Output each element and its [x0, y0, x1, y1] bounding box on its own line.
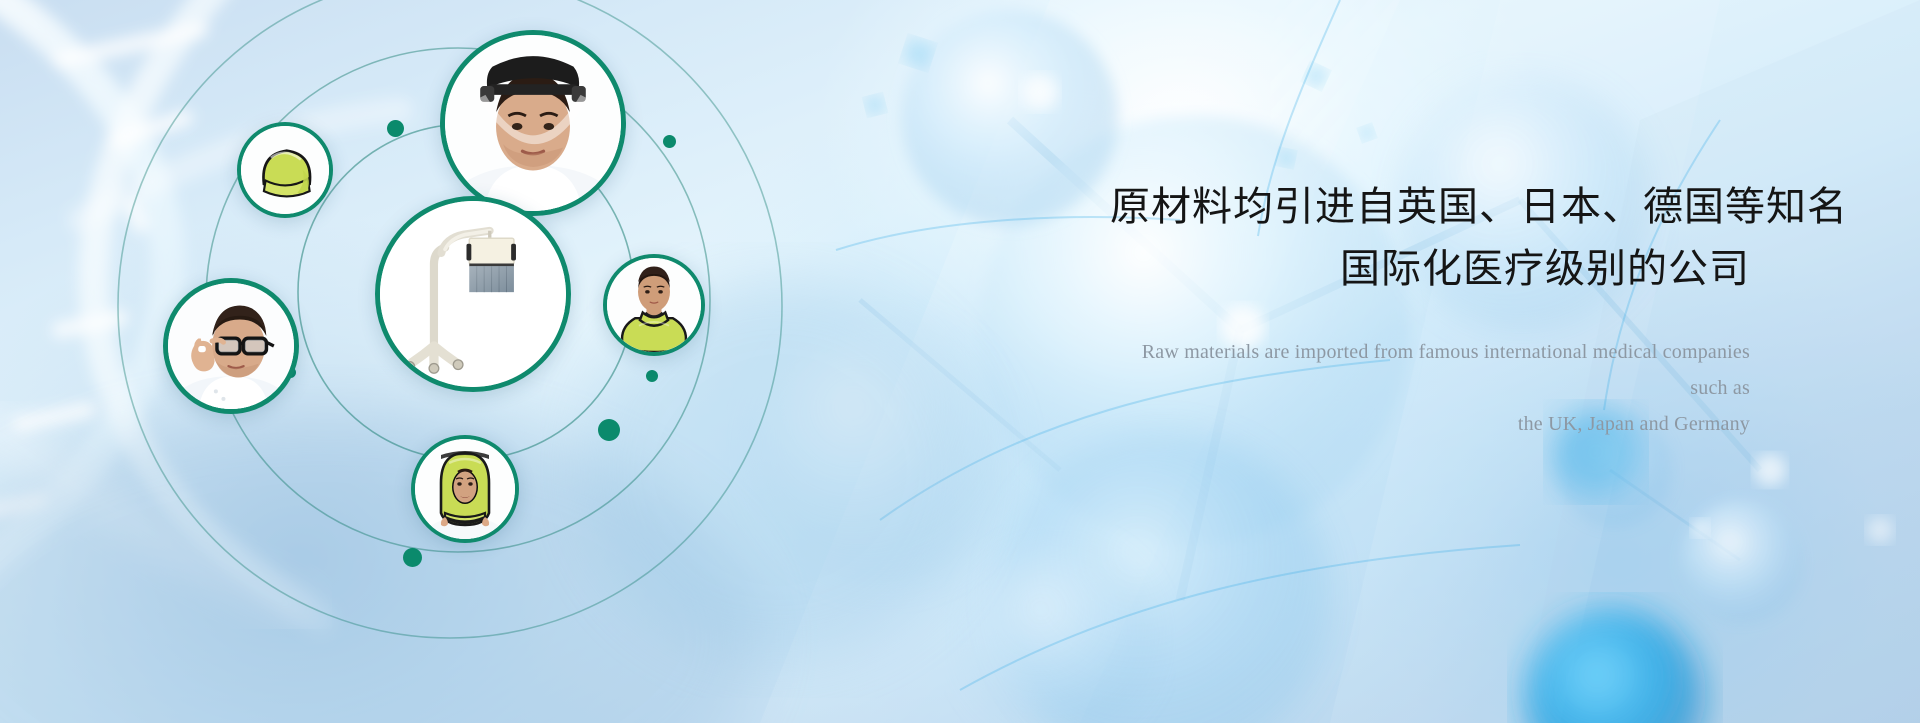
hero-banner: 原材料均引进自英国、日本、德国等知名 国际化医疗级别的公司 Raw materi… [0, 0, 1920, 723]
lead-screen [466, 238, 515, 292]
accent-dot-1 [387, 120, 404, 137]
mobile-barrier-art [380, 201, 566, 387]
thyroid-collar-art [607, 258, 701, 352]
headline-line-1: 原材料均引进自英国、日本、德国等知名 [1110, 176, 1772, 238]
eyeglasses [217, 338, 274, 353]
accent-dot-2 [663, 135, 676, 148]
bubble-thyroid-collar[interactable] [603, 254, 705, 356]
subtitle-line-1: Raw materials are imported from famous i… [1142, 341, 1750, 399]
bubble-face-shield[interactable] [440, 30, 626, 216]
accent-dot-5 [598, 419, 620, 441]
protective-hood-art [415, 439, 515, 539]
headline-line-2: 国际化医疗级别的公司 [1110, 238, 1750, 300]
lead-cap-art [241, 126, 329, 214]
hero-copy-block: 原材料均引进自英国、日本、德国等知名 国际化医疗级别的公司 Raw materi… [1110, 176, 1750, 442]
accent-dot-4 [646, 370, 658, 382]
lead-glasses-art [168, 283, 294, 409]
bubble-lead-glasses[interactable] [163, 278, 299, 414]
face-shield-art [445, 35, 621, 211]
bubble-lead-cap[interactable] [237, 122, 333, 218]
subtitle-line-2: the UK, Japan and Germany [1110, 406, 1750, 442]
accent-dot-6 [403, 548, 422, 567]
bubble-protective-hood[interactable] [411, 435, 519, 543]
bokeh-blue-flecks [864, 37, 1376, 168]
subtitle-block: Raw materials are imported from famous i… [1110, 334, 1750, 442]
bubble-mobile-x-ray-barrier[interactable] [375, 196, 571, 392]
